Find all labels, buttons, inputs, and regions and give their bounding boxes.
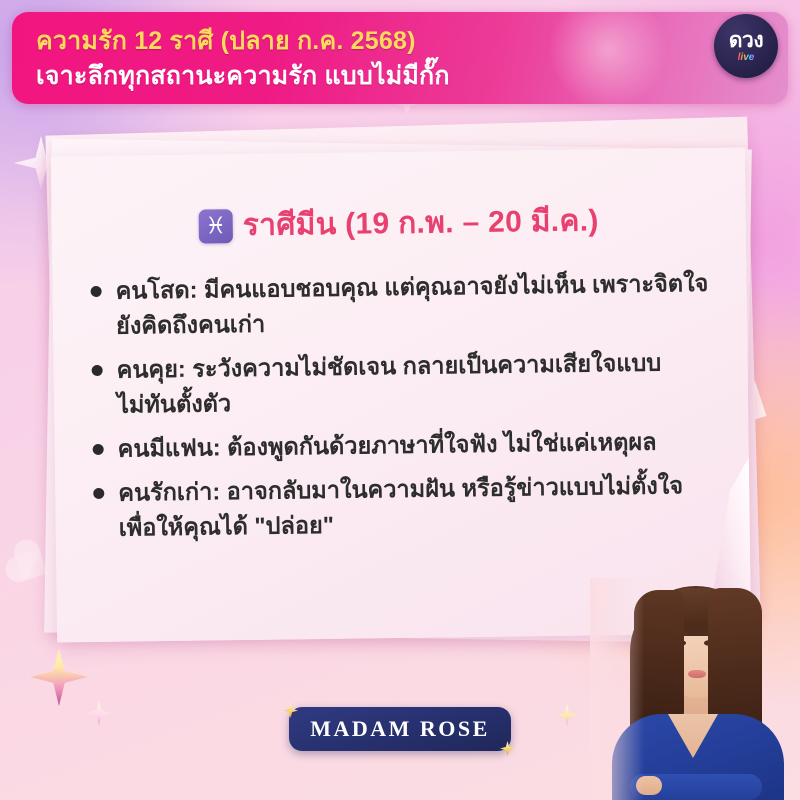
list-item: คนรักเก่า: อาจกลับมาในความฝัน หรือรู้ข่า…: [93, 468, 714, 546]
list-item: คนโสด: มีคนแอบชอบคุณ แต่คุณอาจยังไม่เห็น…: [90, 266, 711, 344]
bullet-dot-icon: [93, 444, 104, 455]
star-icon: [500, 741, 515, 756]
sparkle-icon: [556, 704, 578, 726]
sparkle-icon: [30, 648, 88, 706]
bullet-dot-icon: [92, 365, 103, 376]
header-title-line2: เจาะลึกทุกสถานะความรัก แบบไม่มีกั๊ก: [36, 58, 656, 94]
presenter-photo: [590, 578, 798, 800]
horoscope-card: ♓ ราศีมีน (19 ก.พ. – 20 มี.ค.) คนโสด: มี…: [51, 147, 751, 642]
zodiac-title-row: ♓ ราศีมีน (19 ก.พ. – 20 มี.ค.): [51, 195, 746, 251]
signature-label: MADAM ROSE: [310, 716, 490, 742]
list-item: คนคุย: ระวังความไม่ชัดเจน กลายเป็นความเส…: [91, 345, 712, 423]
brand-logo-subtext: live: [738, 52, 755, 63]
list-item-text: คนคุย: ระวังความไม่ชัดเจน กลายเป็นความเส…: [116, 345, 712, 423]
bullet-dot-icon: [91, 286, 102, 297]
list-item-text: คนรักเก่า: อาจกลับมาในความฝัน หรือรู้ข่า…: [118, 468, 714, 546]
pisces-symbol-icon: ♓: [199, 209, 233, 243]
list-item-text: คนโสด: มีคนแอบชอบคุณ แต่คุณอาจยังไม่เห็น…: [115, 266, 711, 344]
presenter-lips: [688, 670, 706, 678]
poster-canvas: ความรัก 12 ราศี (ปลาย ก.ค. 2568) เจาะลึก…: [0, 0, 800, 800]
header-text-block: ความรัก 12 ราศี (ปลาย ก.ค. 2568) เจาะลึก…: [36, 24, 656, 94]
signature-badge[interactable]: MADAM ROSE: [289, 707, 511, 751]
star-icon: [283, 703, 298, 718]
brand-logo-text: ดวง: [729, 30, 763, 51]
brand-logo-badge[interactable]: ดวง live: [714, 14, 778, 78]
bullet-dot-icon: [93, 488, 104, 499]
horoscope-bullet-list: คนโสด: มีคนแอบชอบคุณ แต่คุณอาจยังไม่เห็น…: [90, 266, 714, 555]
presenter-hand: [636, 776, 662, 795]
zodiac-title: ราศีมีน (19 ก.พ. – 20 มี.ค.): [242, 197, 599, 249]
heart-icon: [15, 549, 48, 582]
list-item: คนมีแฟน: ต้องพูดกันด้วยภาษาที่ใจฟัง ไม่ใ…: [92, 424, 712, 467]
header-banner: ความรัก 12 ราศี (ปลาย ก.ค. 2568) เจาะลึก…: [12, 12, 788, 104]
header-title-line1: ความรัก 12 ราศี (ปลาย ก.ค. 2568): [36, 24, 656, 58]
sparkle-icon: [86, 700, 112, 726]
list-item-text: คนมีแฟน: ต้องพูดกันด้วยภาษาที่ใจฟัง ไม่ใ…: [117, 424, 712, 467]
